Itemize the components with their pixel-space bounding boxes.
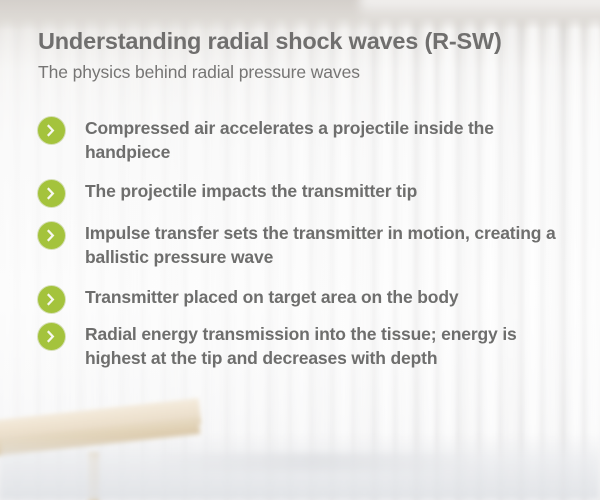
chevron-right-icon (38, 180, 65, 207)
list-item-label: Compressed air accelerates a projectile … (85, 116, 568, 164)
chevron-right-icon (38, 323, 65, 350)
slide-content: Understanding radial shock waves (R-SW) … (0, 0, 600, 500)
list-item-label: Radial energy transmission into the tiss… (85, 322, 568, 370)
chevron-right-icon (38, 222, 65, 249)
slide-container: Understanding radial shock waves (R-SW) … (0, 0, 600, 500)
slide-subtitle: The physics behind radial pressure waves (38, 62, 360, 83)
list-item: The projectile impacts the transmitter t… (38, 179, 568, 203)
bullet-list: Compressed air accelerates a projectile … (38, 116, 568, 370)
list-item: Impulse transfer sets the transmitter in… (38, 221, 568, 269)
chevron-right-icon (38, 117, 65, 144)
list-item-label: Impulse transfer sets the transmitter in… (85, 221, 568, 269)
list-item: Transmitter placed on target area on the… (38, 285, 568, 309)
list-item: Radial energy transmission into the tiss… (38, 322, 568, 370)
list-item-label: The projectile impacts the transmitter t… (85, 179, 568, 203)
list-item: Compressed air accelerates a projectile … (38, 116, 568, 164)
list-item-label: Transmitter placed on target area on the… (85, 285, 568, 309)
slide-title: Understanding radial shock waves (R-SW) (38, 28, 502, 55)
chevron-right-icon (38, 286, 65, 313)
